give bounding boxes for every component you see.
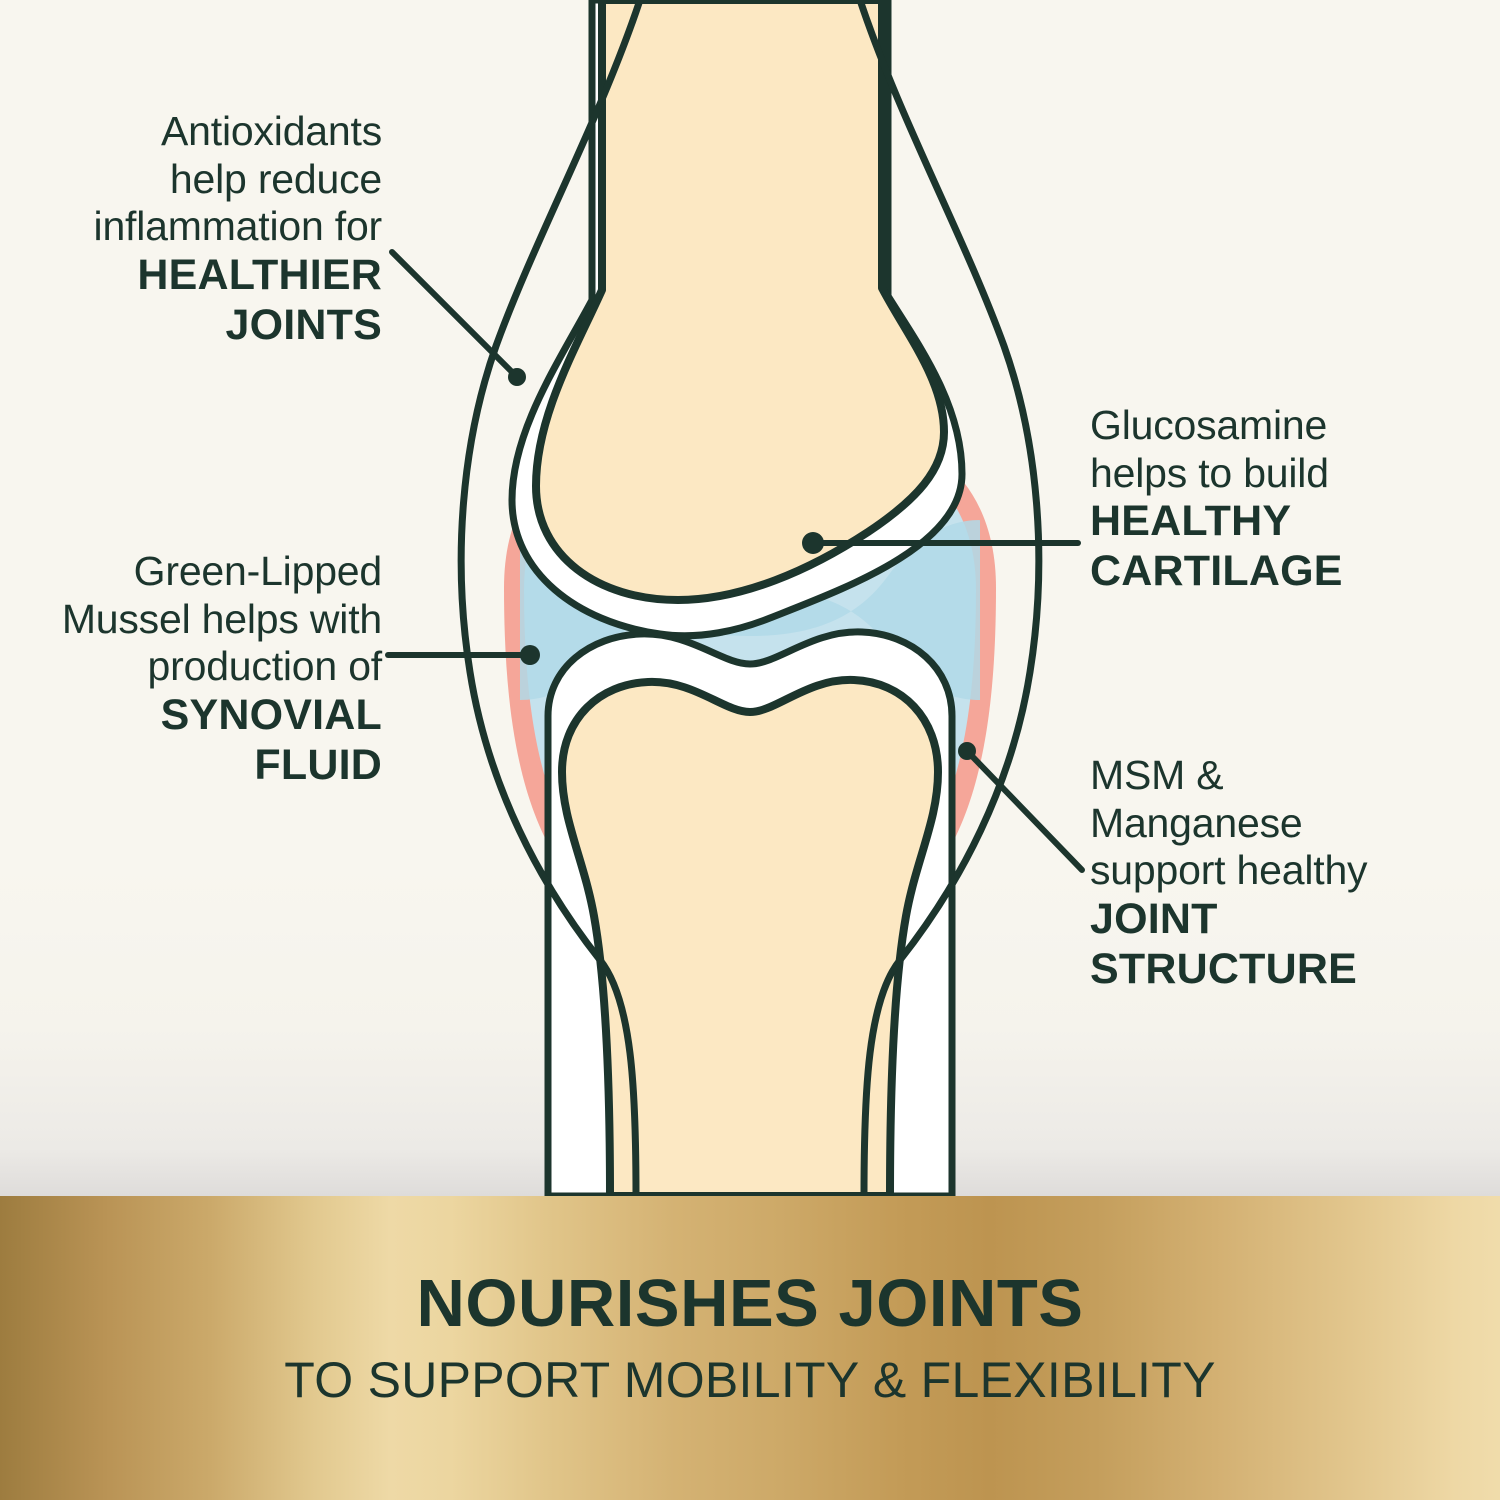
callout-antioxidants-bold-2: JOINTS <box>30 301 382 351</box>
callout-glucosamine-line-2: helps to build <box>1090 450 1490 498</box>
callout-green-lipped-mussel-bold-1: SYNOVIAL <box>20 691 382 741</box>
callout-green-lipped-mussel-line-1: Green-Lipped <box>20 548 382 596</box>
lower-bone-tibia <box>548 632 952 1196</box>
callout-green-lipped-mussel-line-2: Mussel helps with <box>20 596 382 644</box>
callout-msm-manganese: MSM & Manganese support healthy JOINT ST… <box>1090 752 1490 994</box>
callout-msm-manganese-bold-1: JOINT <box>1090 895 1490 945</box>
banner-text-block: NOURISHES JOINTS TO SUPPORT MOBILITY & F… <box>0 1196 1500 1405</box>
callout-antioxidants-bold-1: HEALTHIER <box>30 251 382 301</box>
illustration-area: Antioxidants help reduce inflammation fo… <box>0 0 1500 1196</box>
leader-line-msm <box>958 742 1082 870</box>
callout-glucosamine: Glucosamine helps to build HEALTHY CARTI… <box>1090 402 1490 597</box>
callout-antioxidants-line-1: Antioxidants <box>30 108 382 156</box>
callout-antioxidants-line-3: inflammation for <box>30 203 382 251</box>
callout-glucosamine-bold-2: CARTILAGE <box>1090 547 1490 597</box>
callout-msm-manganese-bold-2: STRUCTURE <box>1090 945 1490 995</box>
banner-subline: TO SUPPORT MOBILITY & FLEXIBILITY <box>0 1355 1500 1405</box>
callout-msm-manganese-line-2: Manganese <box>1090 800 1490 848</box>
callout-glucosamine-bold-1: HEALTHY <box>1090 497 1490 547</box>
callout-green-lipped-mussel-bold-2: FLUID <box>20 741 382 791</box>
callout-green-lipped-mussel-line-3: production of <box>20 643 382 691</box>
callout-antioxidants: Antioxidants help reduce inflammation fo… <box>30 108 382 350</box>
banner-headline: NOURISHES JOINTS <box>0 1270 1500 1337</box>
callout-msm-manganese-line-3: support healthy <box>1090 847 1490 895</box>
callout-glucosamine-line-1: Glucosamine <box>1090 402 1490 450</box>
gold-banner: NOURISHES JOINTS TO SUPPORT MOBILITY & F… <box>0 1196 1500 1500</box>
callout-antioxidants-line-2: help reduce <box>30 156 382 204</box>
callout-msm-manganese-line-1: MSM & <box>1090 752 1490 800</box>
infographic-page: Antioxidants help reduce inflammation fo… <box>0 0 1500 1500</box>
callout-green-lipped-mussel: Green-Lipped Mussel helps with productio… <box>20 548 382 790</box>
